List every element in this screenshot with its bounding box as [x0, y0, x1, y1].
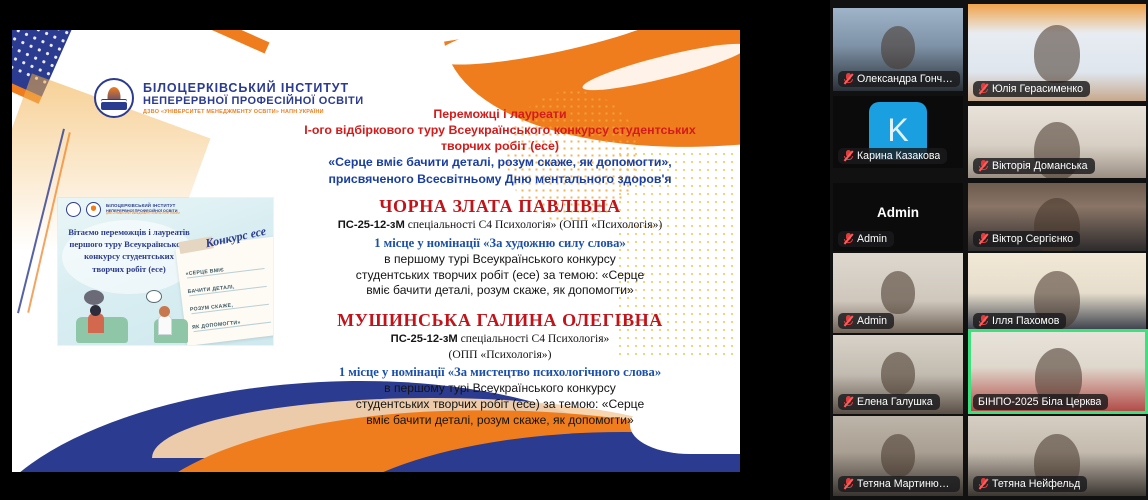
participant-tile[interactable]: AdminAdmin — [833, 183, 963, 251]
video-feed — [881, 26, 915, 69]
participant-rail[interactable]: Олександра Гончаре...Юлія ГерасименкоKКа… — [830, 0, 1148, 500]
participant-name: Юлія Герасименко — [992, 83, 1083, 95]
participant-name: Вікторія Доманська — [992, 160, 1088, 172]
microphone-muted-icon — [843, 478, 853, 490]
participant-tile[interactable]: Admin — [833, 253, 963, 333]
poster-illustration-thought-bubble — [84, 290, 104, 305]
video-conference-window: БІЛОЦЕРКІВСЬКИЙ ІНСТИТУТ НЕПЕРЕРВНОЇ ПРО… — [0, 0, 1148, 500]
winner-group: ПС-25-12-зМ спеціальності С4 Психологія»… — [274, 217, 726, 233]
poster-title: Вітаємо переможців і лауреатів першого т… — [68, 226, 190, 275]
participant-name: БІНПО-2025 Біла Церква — [978, 396, 1101, 408]
participant-tile[interactable]: KКарина Казакова — [833, 96, 963, 168]
winner-nomination: 1 місце у номінації «За художню силу сло… — [274, 236, 726, 251]
participant-name: Елена Галушка — [857, 396, 933, 408]
microphone-muted-icon — [843, 233, 853, 245]
winner-body-line2: студентських творчих робіт (есе) за темо… — [274, 397, 726, 413]
winner-name: ЧОРНА ЗЛАТА ПАВЛІВНА — [274, 196, 726, 217]
shared-screen-stage[interactable]: БІЛОЦЕРКІВСЬКИЙ ІНСТИТУТ НЕПЕРЕРВНОЇ ПРО… — [0, 0, 830, 500]
presentation-slide: БІЛОЦЕРКІВСЬКИЙ ІНСТИТУТ НЕПЕРЕРВНОЇ ПРО… — [12, 30, 740, 472]
poster-institute-logo-icon — [86, 202, 101, 217]
participant-nameplate: Юлія Герасименко — [973, 81, 1090, 97]
participant-nameplate: Олександра Гончаре... — [838, 71, 960, 87]
participant-nameplate: Тетяна Нейфельд — [973, 476, 1087, 492]
participant-nameplate: Елена Галушка — [838, 394, 940, 410]
participant-nameplate: Admin — [838, 313, 894, 329]
winner-nomination: 1 місце у номінації «За мистецтво психол… — [274, 365, 726, 380]
winner-name: МУШИНСЬКА ГАЛИНА ОЛЕГІВНА — [274, 310, 726, 331]
participant-nameplate: Ілля Пахомов — [973, 313, 1066, 329]
winner-body-line1: в першому турі Всеукраїнського конкурсу — [274, 252, 726, 268]
winner-body-line2: студентських творчих робіт (есе) за темо… — [274, 268, 726, 284]
participant-nameplate: Тетяна Мартинюк, Б... — [838, 476, 960, 492]
poster-note-card: «СЕРЦЕ ВМІЄ БАЧИТИ ДЕТАЛІ, РОЗУМ СКАЖЕ, … — [175, 236, 273, 345]
winner-group-code: ПС-25-12-зМ — [391, 333, 458, 345]
poster-illustration-head-therapist — [159, 306, 170, 317]
heading-dedication: присвяченого Всесвітньому Дню ментальног… — [274, 171, 726, 187]
microphone-muted-icon — [978, 478, 988, 490]
winner-body-line1: в першому турі Всеукраїнського конкурсу — [274, 381, 726, 397]
video-feed — [1034, 25, 1080, 83]
winner-body-line3: вміє бачити деталі, розум скаже, як допо… — [274, 413, 726, 429]
video-feed — [881, 271, 915, 314]
institute-logo-icon — [94, 78, 134, 118]
winner-entry-2: МУШИНСЬКА ГАЛИНА ОЛЕГІВНА ПС-25-12-зМ сп… — [274, 310, 726, 428]
participant-nameplate: Віктор Сергієнко — [973, 231, 1080, 247]
participant-name: Віктор Сергієнко — [992, 233, 1073, 245]
participant-name: Admin — [857, 315, 887, 327]
institute-name-line1: БІЛОЦЕРКІВСЬКИЙ ІНСТИТУТ — [143, 81, 364, 95]
microphone-muted-icon — [978, 315, 988, 327]
heading-line3: творчих робіт (есе) — [274, 138, 726, 154]
slide-text-block: Переможці і лауреати I-ого відбіркового … — [274, 106, 726, 428]
microphone-muted-icon — [978, 83, 988, 95]
participant-tile[interactable]: Тетяна Нейфельд — [968, 416, 1146, 496]
participant-tile[interactable]: Ілля Пахомов — [968, 253, 1146, 333]
participant-tile[interactable]: Віктор Сергієнко — [968, 183, 1146, 251]
microphone-muted-icon — [978, 160, 988, 172]
participant-nameplate: Вікторія Доманська — [973, 158, 1095, 174]
participant-tile[interactable]: Елена Галушка — [833, 335, 963, 414]
poster-logo-line3: ДЗВО «УНІВЕРСИТЕТ МЕНЕДЖМЕНТУ ОСВІТИ» НА… — [106, 213, 180, 216]
participant-name: Ілля Пахомов — [992, 315, 1059, 327]
participant-display-name: Admin — [833, 205, 963, 220]
poster-illustration-person-client — [88, 313, 104, 333]
heading-line1: Переможці і лауреати — [274, 106, 726, 122]
participant-tile[interactable]: Олександра Гончаре... — [833, 8, 963, 91]
participant-tile[interactable]: БІНПО-2025 Біла Церква — [968, 329, 1148, 414]
poster-illustration-head-client — [90, 305, 101, 316]
poster-illustration-person-therapist — [158, 315, 172, 335]
winner-group: ПС-25-12-зМ спеціальності С4 Психологія» — [274, 331, 726, 347]
poster-logos: БІЛОЦЕРКІВСЬКИЙ ІНСТИТУТ НЕПЕРЕРВНОЇ ПРО… — [66, 202, 180, 217]
participant-nameplate: Admin — [838, 231, 894, 247]
participant-name: Карина Казакова — [857, 150, 940, 162]
participant-tile[interactable]: Юлія Герасименко — [968, 4, 1146, 101]
participant-name: Олександра Гончаре... — [857, 73, 953, 85]
winner-group-code: ПС-25-12-зМ — [338, 219, 405, 231]
winner-group-line2: (ОПП «Психологія») — [274, 347, 726, 362]
participant-name: Тетяна Нейфельд — [992, 478, 1080, 490]
participant-name: Тетяна Мартинюк, Б... — [857, 478, 953, 490]
participant-nameplate: БІНПО-2025 Біла Церква — [973, 394, 1108, 410]
heading-quote: «Серце вміє бачити деталі, розум скаже, … — [274, 154, 726, 170]
poster-image: БІЛОЦЕРКІВСЬКИЙ ІНСТИТУТ НЕПЕРЕРВНОЇ ПРО… — [58, 198, 273, 345]
participant-name: Admin — [857, 233, 887, 245]
microphone-muted-icon — [843, 73, 853, 85]
poster-logo-line1: БІЛОЦЕРКІВСЬКИЙ ІНСТИТУТ — [106, 204, 180, 209]
winner-group-rest: спеціальності С4 Психологія» — [458, 332, 610, 345]
winner-body-line3: вміє бачити деталі, розум скаже, як допо… — [274, 283, 726, 299]
microphone-muted-icon — [978, 233, 988, 245]
heading-line2: I-ого відбіркового туру Всеукраїнського … — [274, 122, 726, 138]
microphone-muted-icon — [843, 396, 853, 408]
participant-tile[interactable]: Тетяна Мартинюк, Б... — [833, 416, 963, 496]
poster-illustration-speech-bubble — [146, 290, 162, 303]
video-feed — [881, 434, 915, 477]
winner-entry-1: ЧОРНА ЗЛАТА ПАВЛІВНА ПС-25-12-зМ спеціал… — [274, 196, 726, 299]
microphone-muted-icon — [843, 150, 853, 162]
microphone-muted-icon — [843, 315, 853, 327]
participant-tile[interactable]: Вікторія Доманська — [968, 106, 1146, 178]
participant-nameplate: Карина Казакова — [838, 148, 947, 164]
winner-group-rest: спеціальності С4 Психологія» (ОПП «Психо… — [405, 218, 662, 231]
poster-seal-icon — [66, 202, 81, 217]
video-feed — [881, 352, 915, 395]
